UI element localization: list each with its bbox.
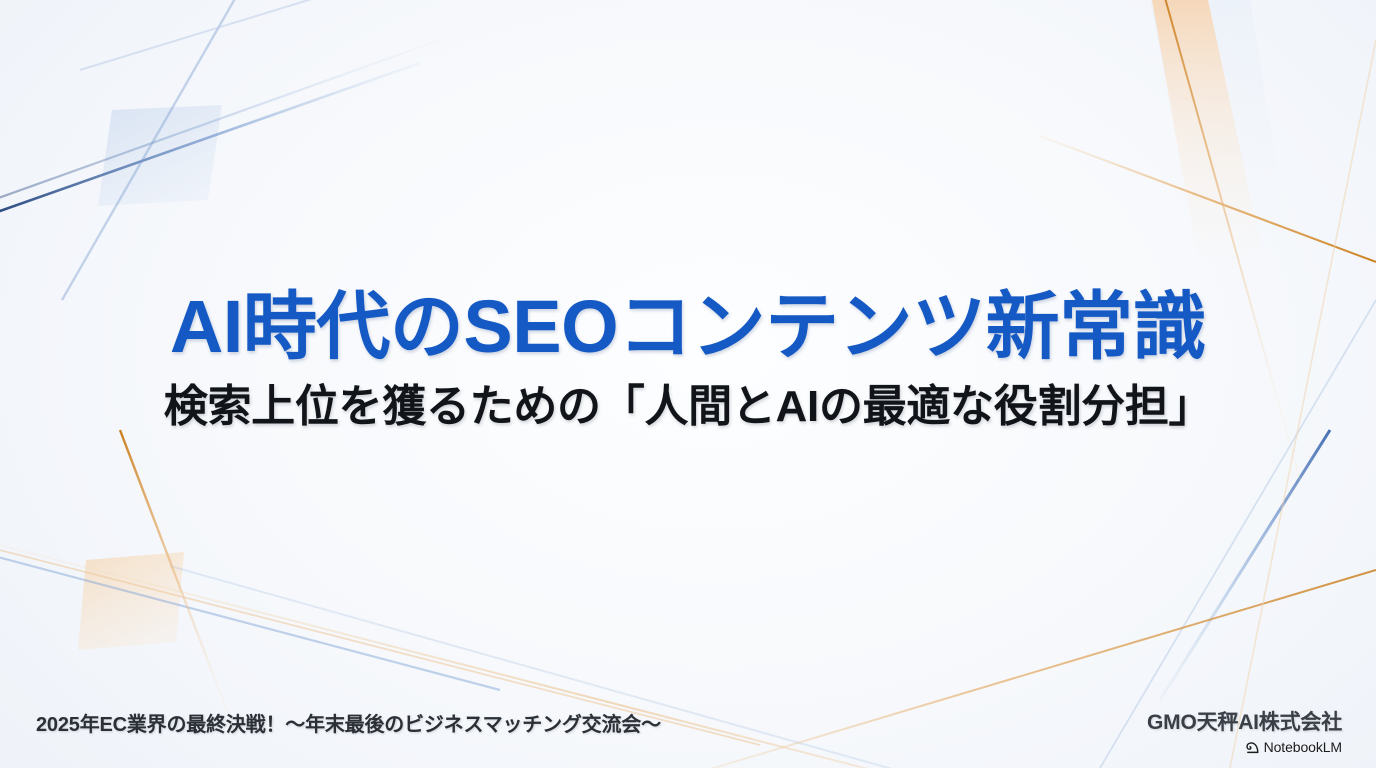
line-blue-faint-mid <box>80 0 700 70</box>
title-block: AI時代のSEOコンテンツ新常識 検索上位を獲るための「人間とAIの最適な役割分… <box>0 288 1376 432</box>
notebooklm-spiral-icon <box>1245 740 1260 755</box>
footer-branding: GMO天秤AI株式会社 NotebookLM <box>1147 706 1342 755</box>
line-orange-top-right <box>1040 136 1376 262</box>
notebooklm-badge: NotebookLM <box>1147 739 1342 755</box>
notebooklm-label: NotebookLM <box>1264 739 1342 755</box>
line-blue-diag-down <box>62 0 240 300</box>
presentation-slide: AI時代のSEOコンテンツ新常識 検索上位を獲るための「人間とAIの最適な役割分… <box>0 0 1376 768</box>
shape-orange-parallelogram <box>78 552 184 650</box>
line-blue-bottom-right <box>1160 430 1330 700</box>
line-blue-long-left <box>0 555 500 690</box>
slide-footer: 2025年EC業界の最終決戦！～年末最後のビジネスマッチング交流会～ GMO天秤… <box>0 690 1376 768</box>
shape-blue-parallelogram <box>98 105 222 206</box>
footer-company-name: GMO天秤AI株式会社 <box>1147 706 1342 736</box>
shape-blue-band-topright <box>1150 0 1290 262</box>
page-title: AI時代のSEOコンテンツ新常識 <box>0 288 1376 366</box>
footer-event-name: 2025年EC業界の最終決戦！～年末最後のビジネスマッチング交流会～ <box>36 708 661 737</box>
line-blue-mid-1 <box>0 40 440 206</box>
line-blue-dark-1 <box>0 63 420 218</box>
page-subtitle: 検索上位を獲るための「人間とAIの最適な役割分担」 <box>0 382 1376 431</box>
shape-orange-band-topright <box>1152 0 1262 262</box>
